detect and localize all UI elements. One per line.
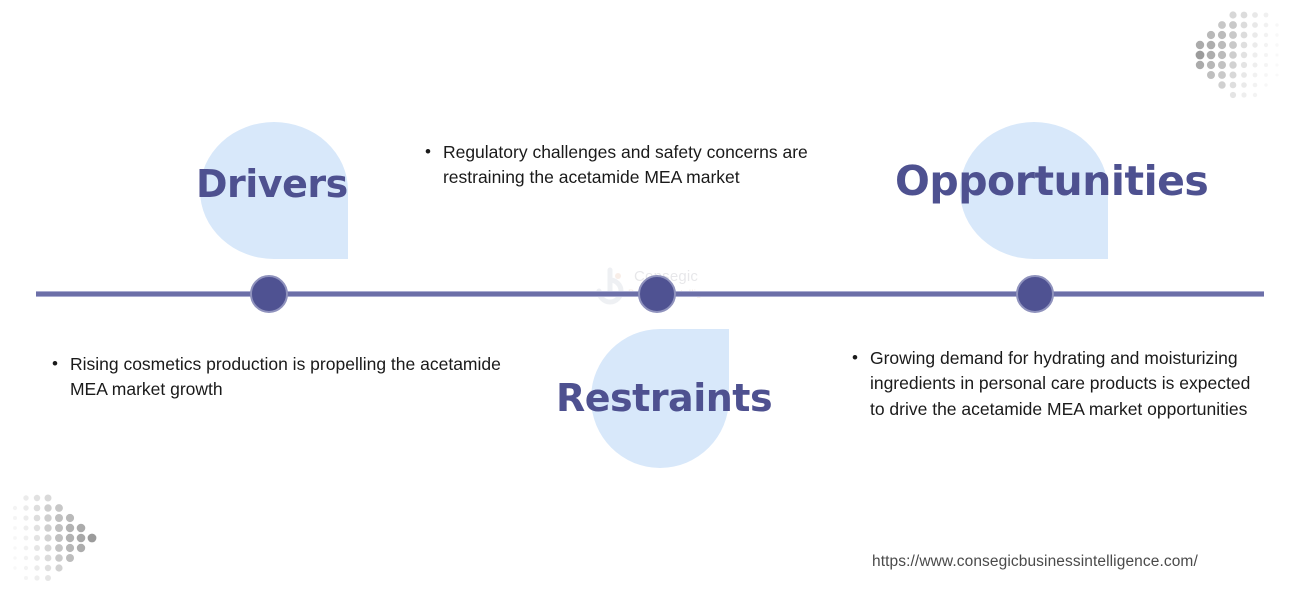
source-url[interactable]: https://www.consegicbusinessintelligence…	[872, 553, 1198, 571]
timeline-dot-restraints[interactable]	[638, 275, 676, 313]
drivers-bullet-text: Rising cosmetics production is propellin…	[70, 352, 512, 403]
restraints-bullet-item: • Regulatory challenges and safety conce…	[425, 140, 855, 191]
consegic-logo-icon	[588, 266, 628, 310]
restraints-title: Restraints	[556, 379, 772, 417]
bullet-point-icon: •	[852, 346, 858, 422]
restraints-bullet-text: Regulatory challenges and safety concern…	[443, 140, 855, 191]
drivers-title: Drivers	[196, 165, 348, 203]
opportunities-bullet-text: Growing demand for hydrating and moistur…	[870, 346, 1262, 422]
timeline-dot-drivers[interactable]	[250, 275, 288, 313]
opportunities-bullet-item: • Growing demand for hydrating and moist…	[852, 346, 1262, 422]
opportunities-title: Opportunities	[895, 161, 1208, 202]
bullet-point-icon: •	[425, 140, 431, 191]
bullet-point-icon: •	[52, 352, 58, 403]
drivers-bullet-item: • Rising cosmetics production is propell…	[52, 352, 512, 403]
timeline-dot-opportunities[interactable]	[1016, 275, 1054, 313]
halftone-chevron-left-icon	[1192, 4, 1284, 106]
infographic-canvas: Consegic Business Intelligence Drivers O…	[0, 0, 1289, 600]
halftone-chevron-right-icon	[2, 484, 100, 592]
